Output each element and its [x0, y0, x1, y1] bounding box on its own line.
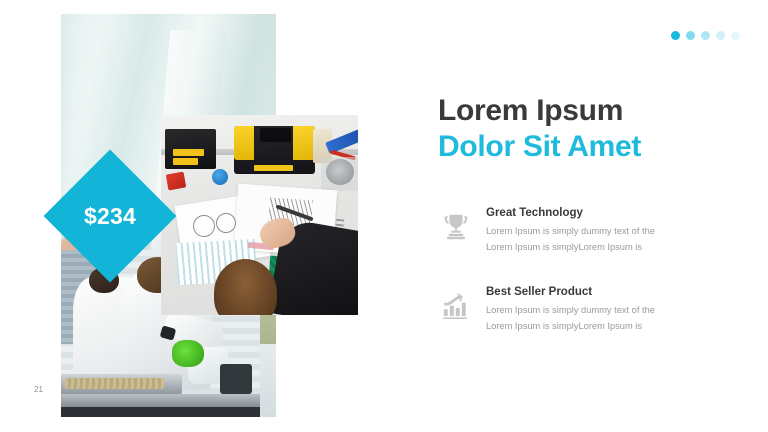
- photo-bench-shadow: [61, 407, 260, 417]
- photo-blue-knob: [212, 169, 228, 185]
- pagination-dot-1[interactable]: [671, 31, 680, 40]
- photo-red-parts: [166, 172, 186, 191]
- feature-item-best-seller-product: Best Seller Product Lorem Ipsum is simpl…: [436, 284, 741, 334]
- feature-title: Best Seller Product: [486, 285, 655, 299]
- pagination-dot-3[interactable]: [701, 31, 710, 40]
- feature-title: Great Technology: [486, 206, 655, 220]
- photo-stool: [220, 364, 252, 394]
- photo-yellow-label-2: [173, 158, 199, 165]
- feature-line-2: Lorem Ipsum is simplyLorem Ipsum is: [486, 240, 655, 256]
- trophy-icon: [436, 207, 476, 247]
- feature-list: Great Technology Lorem Ipsum is simply d…: [436, 205, 741, 363]
- feature-item-great-technology: Great Technology Lorem Ipsum is simply d…: [436, 205, 741, 255]
- pagination-dots[interactable]: [671, 31, 740, 40]
- presentation-slide: $234 Lorem Ipsum Dolor Sit Amet Great Te…: [0, 0, 768, 432]
- photo-toolbox-brand: [254, 165, 293, 171]
- photo-motor: [326, 159, 354, 185]
- pagination-dot-5[interactable]: [731, 31, 740, 40]
- page-title: Lorem Ipsum Dolor Sit Amet: [438, 93, 738, 165]
- feature-line-1: Lorem Ipsum is simply dummy text of the: [486, 303, 655, 319]
- page-number: 21: [34, 385, 43, 394]
- price-value: $234: [43, 190, 177, 242]
- photo-toolbox-handle: [260, 128, 292, 142]
- pagination-dot-2[interactable]: [686, 31, 695, 40]
- bar-chart-growth-icon: [436, 286, 476, 326]
- photo-toolbox-latch-left: [234, 126, 254, 160]
- photo-workbench-toolbox: [161, 115, 358, 315]
- feature-line-1: Lorem Ipsum is simply dummy text of the: [486, 224, 655, 240]
- photo-yellow-label-1: [173, 149, 205, 156]
- headline-line-1: Lorem Ipsum: [438, 93, 738, 129]
- photo-toolbox-latch-right: [293, 126, 315, 160]
- feature-line-2: Lorem Ipsum is simplyLorem Ipsum is: [486, 319, 655, 335]
- photo-green-tool: [172, 340, 204, 367]
- photo-grain: [65, 378, 165, 390]
- pagination-dot-4[interactable]: [716, 31, 725, 40]
- feature-text: Great Technology Lorem Ipsum is simply d…: [476, 205, 655, 255]
- feature-text: Best Seller Product Lorem Ipsum is simpl…: [476, 284, 655, 334]
- headline-line-2: Dolor Sit Amet: [438, 129, 738, 165]
